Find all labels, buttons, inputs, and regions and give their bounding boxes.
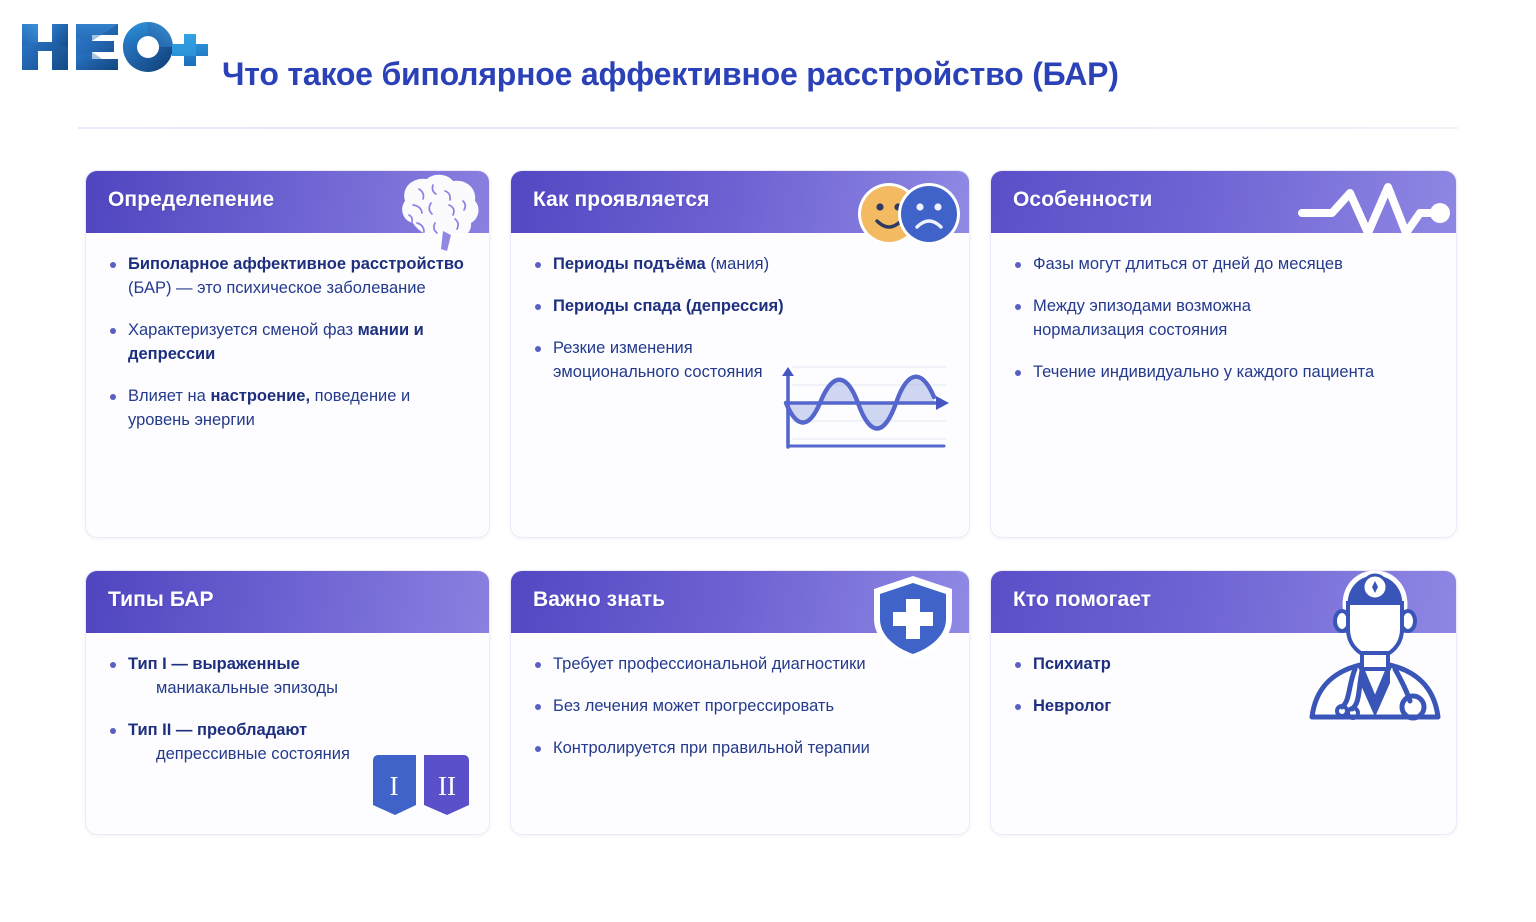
list-item: Невролог bbox=[1013, 695, 1434, 719]
bullet-text: Контролируется при правильной терапии bbox=[553, 739, 870, 757]
bullet-bold-text: Периоды подъёма bbox=[553, 255, 710, 273]
bullet-text: Между эпизодами возможна нормализация со… bbox=[1033, 297, 1251, 339]
bullet-text: Фазы могут длиться от дней до месяцев bbox=[1033, 255, 1343, 273]
list-item: Резкие изменения эмоционального состояни… bbox=[533, 337, 783, 385]
bullet-bold-text: Тип I — выраженные bbox=[128, 655, 300, 673]
list-item: Влияет на настроение, поведение и уровен… bbox=[108, 385, 467, 433]
list-item: Психиатр bbox=[1013, 653, 1434, 677]
card-body: Биполарное аффективное расстройство (БАР… bbox=[86, 233, 489, 461]
card-title: Важно знать bbox=[533, 588, 665, 612]
neo-plus-logo bbox=[18, 18, 208, 76]
badge-label-1: I bbox=[390, 771, 399, 801]
card-features: Особенности Фазы могут длиться от дней д… bbox=[990, 170, 1457, 538]
list-item: Тип I — выраженные маниакальные эпизоды bbox=[108, 653, 467, 701]
page-header: Что такое биполярное аффективное расстро… bbox=[0, 0, 1536, 140]
types-badge-icon: I II bbox=[371, 754, 471, 816]
card-types: Типы БАР Тип I — выраженные маниакальные… bbox=[85, 570, 490, 835]
list-item: Периоды спада (депрессия) bbox=[533, 295, 947, 319]
list-item: Без лечения может прогрессировать bbox=[533, 695, 947, 719]
card-title: Типы БАР bbox=[108, 588, 214, 612]
list-item: Контролируется при правильной терапии bbox=[533, 737, 947, 761]
bullet-text: (БАР) — это психическое заболевание bbox=[128, 279, 426, 297]
page-title: Что такое биполярное аффективное расстро… bbox=[222, 56, 1119, 93]
card-title: Особенности bbox=[1013, 188, 1152, 212]
card-header: Определепение bbox=[86, 171, 489, 233]
bullet-text: (мания) bbox=[710, 255, 769, 273]
list-item: Фазы могут длиться от дней до месяцев bbox=[1013, 253, 1434, 277]
bullet-bold-text: настроение, bbox=[210, 387, 310, 405]
list-item: Течение индивидуально у каждого пациента bbox=[1013, 361, 1434, 385]
card-body: Психиатр Невролог bbox=[991, 633, 1456, 747]
list-item: Между эпизодами возможна нормализация со… bbox=[1013, 295, 1313, 343]
list-item: Характеризуется сменой фаз мании и депре… bbox=[108, 319, 467, 367]
bullet-text: Без лечения может прогрессировать bbox=[553, 697, 834, 715]
card-body: Требует профессиональной диагностики Без… bbox=[511, 633, 969, 789]
card-definition: Определепение Биполарное аффективное bbox=[85, 170, 490, 538]
bullet-bold-text: Невролог bbox=[1033, 697, 1111, 715]
card-header: Важно знать bbox=[511, 571, 969, 633]
bullet-text: Характеризуется сменой фаз bbox=[128, 321, 358, 339]
title-divider bbox=[78, 127, 1458, 129]
card-manifestation: Как проявляется Период bbox=[510, 170, 970, 538]
card-header: Кто помогает bbox=[991, 571, 1456, 633]
list-item: Требует профессиональной диагностики bbox=[533, 653, 947, 677]
bullet-text: Резкие изменения эмоционального состояни… bbox=[553, 339, 763, 381]
bullet-bold-text: Периоды спада (депрессия) bbox=[553, 297, 784, 315]
bullet-list: Психиатр Невролог bbox=[1013, 653, 1434, 719]
wave-chart-icon bbox=[768, 355, 953, 451]
card-header: Особенности bbox=[991, 171, 1456, 233]
card-who-helps: Кто помогает bbox=[990, 570, 1457, 835]
list-item: Периоды подъёма (мания) bbox=[533, 253, 947, 277]
bullet-list: Требует профессиональной диагностики Без… bbox=[533, 653, 947, 761]
bullet-bold-text: Тип II — преобладают bbox=[128, 721, 307, 739]
card-title: Определепение bbox=[108, 188, 274, 212]
bullet-list: Фазы могут длиться от дней до месяцев Ме… bbox=[1013, 253, 1434, 385]
card-body: Фазы могут длиться от дней до месяцев Ме… bbox=[991, 233, 1456, 413]
card-important: Важно знать Требует профессиональной диа… bbox=[510, 570, 970, 835]
card-header: Типы БАР bbox=[86, 571, 489, 633]
list-item: Биполарное аффективное расстройство (БАР… bbox=[108, 253, 467, 301]
bullet-text: Влияет на bbox=[128, 387, 210, 405]
bullet-bold-text: Биполарное аффективное расстройство bbox=[128, 255, 464, 273]
cards-grid: Определепение Биполарное аффективное bbox=[85, 170, 1457, 835]
bullet-text: Требует профессиональной диагностики bbox=[553, 655, 866, 673]
card-title: Кто помогает bbox=[1013, 588, 1151, 612]
bullet-list: Тип I — выраженные маниакальные эпизоды … bbox=[108, 653, 467, 767]
bullet-subtext: маниакальные эпизоды bbox=[128, 677, 467, 701]
bullet-bold-text: Психиатр bbox=[1033, 655, 1111, 673]
card-header: Как проявляется bbox=[511, 171, 969, 233]
bullet-list: Биполарное аффективное расстройство (БАР… bbox=[108, 253, 467, 433]
badge-label-2: II bbox=[438, 771, 456, 801]
bullet-text: Течение индивидуально у каждого пациента bbox=[1033, 363, 1374, 381]
card-title: Как проявляется bbox=[533, 188, 709, 212]
